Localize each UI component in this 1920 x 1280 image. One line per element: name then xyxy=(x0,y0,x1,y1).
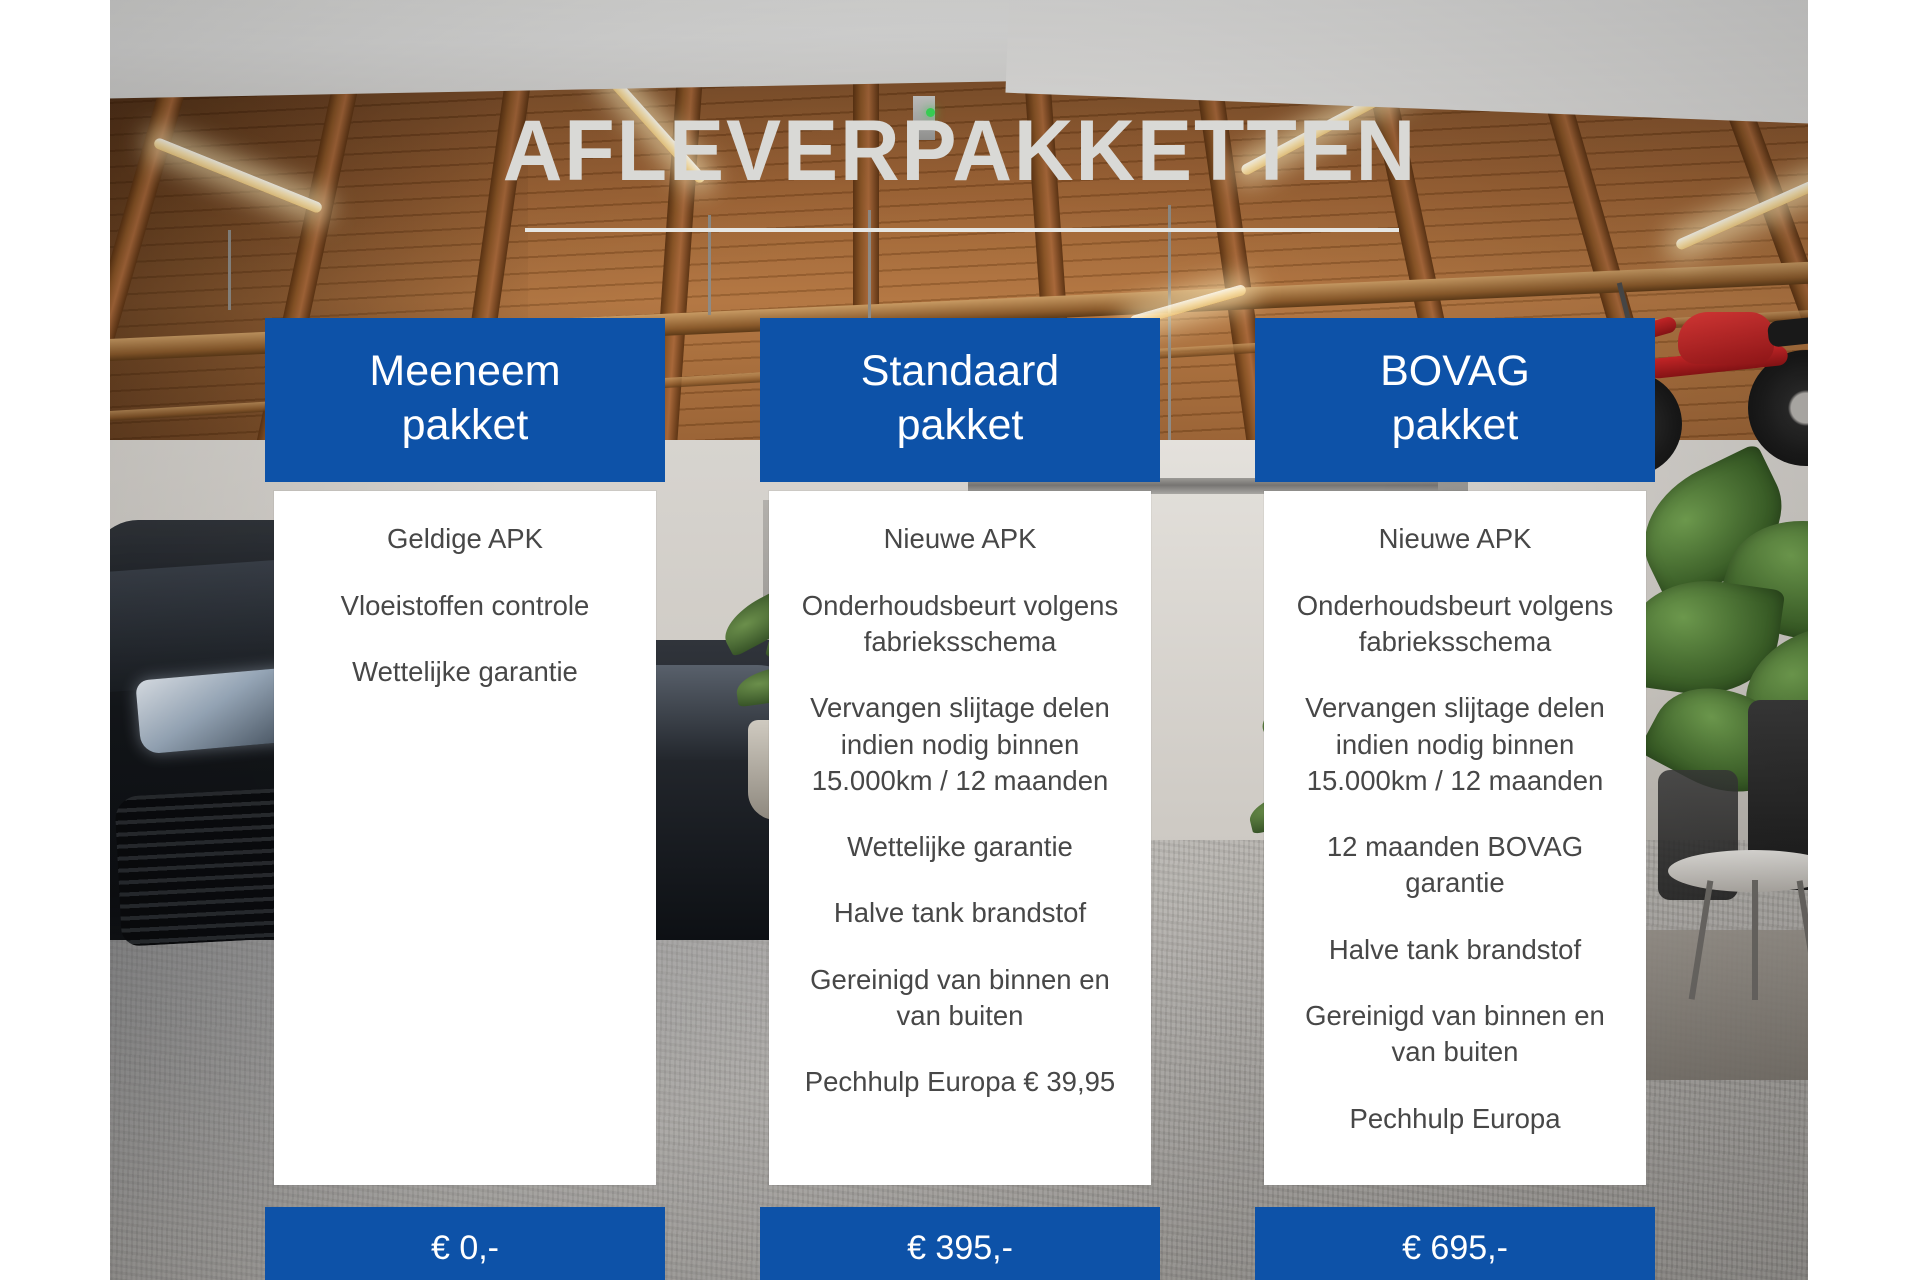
package-title-line2: pakket xyxy=(778,398,1142,452)
package-card-header: Meeneem pakket xyxy=(265,318,665,482)
package-card-header: BOVAG pakket xyxy=(1255,318,1655,482)
package-feature: Vloeistoffen controle xyxy=(296,588,634,624)
package-title-line2: pakket xyxy=(1273,398,1637,452)
package-feature: Halve tank brandstof xyxy=(1286,932,1624,968)
page-title: AFLEVERPAKKETTEN xyxy=(38,108,1881,194)
package-price: € 0,- xyxy=(265,1207,665,1280)
title-divider xyxy=(525,228,1399,232)
package-feature: Onderhoudsbeurt volgens fabrieksschema xyxy=(1286,588,1624,661)
package-feature: Gereinigd van binnen en van buiten xyxy=(791,962,1129,1035)
package-feature: Pechhulp Europa xyxy=(1286,1101,1624,1137)
package-title-line2: pakket xyxy=(283,398,647,452)
package-feature: Wettelijke garantie xyxy=(791,829,1129,865)
package-feature: 12 maanden BOVAG garantie xyxy=(1286,829,1624,902)
package-feature-list: Nieuwe APK Onderhoudsbeurt volgens fabri… xyxy=(1264,491,1646,1185)
package-card-meeneem[interactable]: Meeneem pakket Geldige APK Vloeistoffen … xyxy=(265,318,665,1280)
package-feature: Gereinigd van binnen en van buiten xyxy=(1286,998,1624,1071)
package-card-header: Standaard pakket xyxy=(760,318,1160,482)
package-card-standaard[interactable]: Standaard pakket Nieuwe APK Onderhoudsbe… xyxy=(760,318,1160,1280)
package-feature: Pechhulp Europa € 39,95 xyxy=(791,1064,1129,1100)
package-feature-list: Geldige APK Vloeistoffen controle Wettel… xyxy=(274,491,656,1185)
left-letterbox-bar xyxy=(0,0,110,1280)
package-feature: Onderhoudsbeurt volgens fabrieksschema xyxy=(791,588,1129,661)
package-feature: Vervangen slijtage delen indien nodig bi… xyxy=(791,690,1129,799)
package-feature: Wettelijke garantie xyxy=(296,654,634,690)
package-feature: Nieuwe APK xyxy=(1286,521,1624,557)
package-feature-list: Nieuwe APK Onderhoudsbeurt volgens fabri… xyxy=(769,491,1151,1185)
package-price: € 395,- xyxy=(760,1207,1160,1280)
promo-graphic: elf xyxy=(0,0,1920,1280)
package-title-line1: Standaard xyxy=(778,344,1142,398)
package-title-line1: BOVAG xyxy=(1273,344,1637,398)
package-feature: Geldige APK xyxy=(296,521,634,557)
package-price: € 695,- xyxy=(1255,1207,1655,1280)
package-feature: Vervangen slijtage delen indien nodig bi… xyxy=(1286,690,1624,799)
package-title-line1: Meeneem xyxy=(283,344,647,398)
package-cards: Meeneem pakket Geldige APK Vloeistoffen … xyxy=(265,318,1655,1280)
right-letterbox-bar xyxy=(1808,0,1920,1280)
package-feature: Nieuwe APK xyxy=(791,521,1129,557)
package-feature: Halve tank brandstof xyxy=(791,895,1129,931)
package-card-bovag[interactable]: BOVAG pakket Nieuwe APK Onderhoudsbeurt … xyxy=(1255,318,1655,1280)
